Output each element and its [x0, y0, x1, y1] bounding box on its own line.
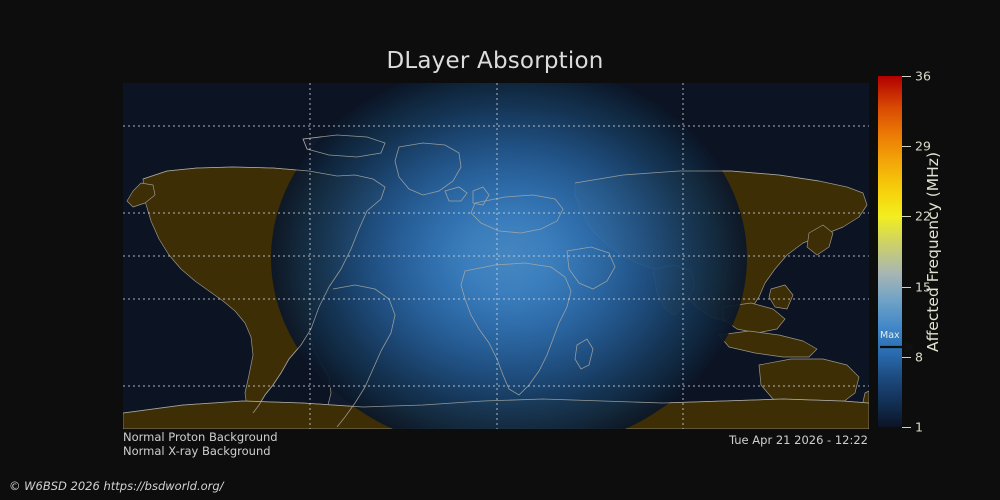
colorbar-tick-mark	[902, 216, 911, 217]
chart-canvas: DLayer Absorption	[0, 0, 1000, 500]
timestamp-label: Tue Apr 21 2026 - 12:22	[620, 433, 868, 447]
colorbar-axis-label-text: Affected Frequency (MHz)	[924, 152, 942, 352]
colorbar-gradient	[878, 76, 902, 427]
colorbar-tick-mark	[902, 287, 911, 288]
colorbar-axis-label: Affected Frequency (MHz)	[921, 76, 945, 427]
colorbar-tick-mark	[902, 76, 911, 77]
world-map-plot	[123, 83, 869, 429]
map-svg	[123, 83, 869, 429]
colorbar-tick-mark	[902, 357, 911, 358]
proton-background-note: Normal Proton Background	[123, 430, 278, 444]
page-title: DLayer Absorption	[0, 48, 990, 74]
colorbar-tick-mark	[902, 427, 911, 428]
xray-background-note: Normal X-ray Background	[123, 444, 271, 458]
copyright-label: © W6BSD 2026 https://bsdworld.org/	[9, 479, 224, 493]
colorbar-tick-mark	[902, 146, 911, 147]
colorbar	[878, 76, 902, 427]
